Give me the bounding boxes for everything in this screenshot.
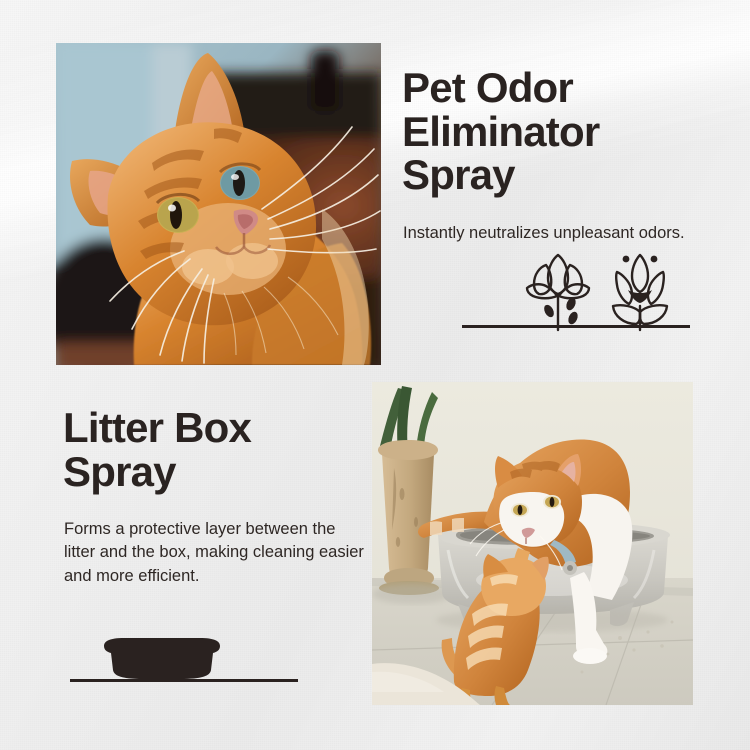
photo-cat-portrait [56,43,381,365]
headline-litter-box-spray: Litter Box Spray [63,406,373,493]
icon-group-flowers [462,252,690,332]
photo-litterbox-scene [372,382,693,705]
poster-canvas: Pet Odor Eliminator Spray Instantly neut… [0,0,750,750]
icon-group-litter-tray [70,634,298,684]
subcopy-litter-box-spray: Forms a protective layer between the lit… [64,518,364,588]
subcopy-pet-odor-eliminator: Instantly neutralizes unpleasant odors. [403,222,693,245]
headline-pet-odor-eliminator-spray: Pet Odor Eliminator Spray [402,66,702,197]
